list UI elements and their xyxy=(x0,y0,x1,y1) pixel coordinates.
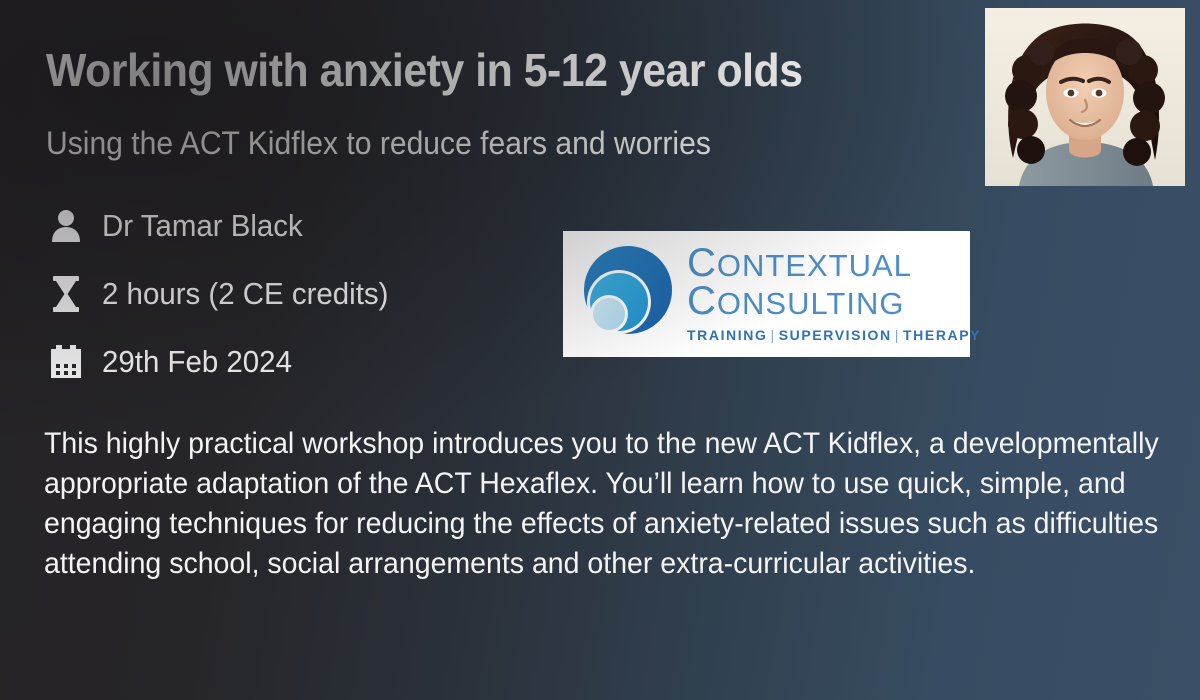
logo-line-contextual: CONTEXTUAL xyxy=(687,245,981,282)
detail-row-date: 29th Feb 2024 xyxy=(46,328,566,396)
logo-line2-cap: C xyxy=(687,279,717,323)
presenter-photo xyxy=(985,8,1185,186)
tagline-separator-1: | xyxy=(767,327,778,343)
nested-circles-wave-icon xyxy=(573,240,681,348)
description-text: This highly practical workshop introduce… xyxy=(44,424,1200,584)
detail-row-duration: 2 hours (2 CE credits) xyxy=(46,260,566,328)
calendar-icon xyxy=(46,342,86,382)
detail-label-date: 29th Feb 2024 xyxy=(102,344,292,380)
page-subtitle: Using the ACT Kidflex to reduce fears an… xyxy=(46,124,892,162)
logo-line-consulting: CONSULTING xyxy=(687,283,981,320)
tagline-item-therapy: THERAPY xyxy=(903,327,981,343)
logo-tagline: TRAINING|SUPERVISION|THERAPY xyxy=(687,327,981,343)
logo-line2-rest: ONSULTING xyxy=(717,286,905,321)
event-details-list: Dr Tamar Black 2 hours (2 CE credits) xyxy=(46,192,566,396)
logo-line1-rest: ONTEXTUAL xyxy=(717,248,912,283)
hourglass-icon xyxy=(46,274,86,314)
promo-slide: Working with anxiety in 5-12 year olds U… xyxy=(0,0,1200,700)
page-title: Working with anxiety in 5-12 year olds xyxy=(46,46,902,94)
detail-label-duration: 2 hours (2 CE credits) xyxy=(102,276,388,312)
detail-label-presenter: Dr Tamar Black xyxy=(102,208,303,244)
tagline-separator-2: | xyxy=(892,327,903,343)
logo-wordmark: CONTEXTUAL CONSULTING TRAINING|SUPERVISI… xyxy=(681,245,981,342)
tagline-item-supervision: SUPERVISION xyxy=(779,327,892,343)
contextual-consulting-logo: CONTEXTUAL CONSULTING TRAINING|SUPERVISI… xyxy=(563,231,970,357)
detail-row-presenter: Dr Tamar Black xyxy=(46,192,566,260)
person-icon xyxy=(46,206,86,246)
tagline-item-training: TRAINING xyxy=(687,327,767,343)
